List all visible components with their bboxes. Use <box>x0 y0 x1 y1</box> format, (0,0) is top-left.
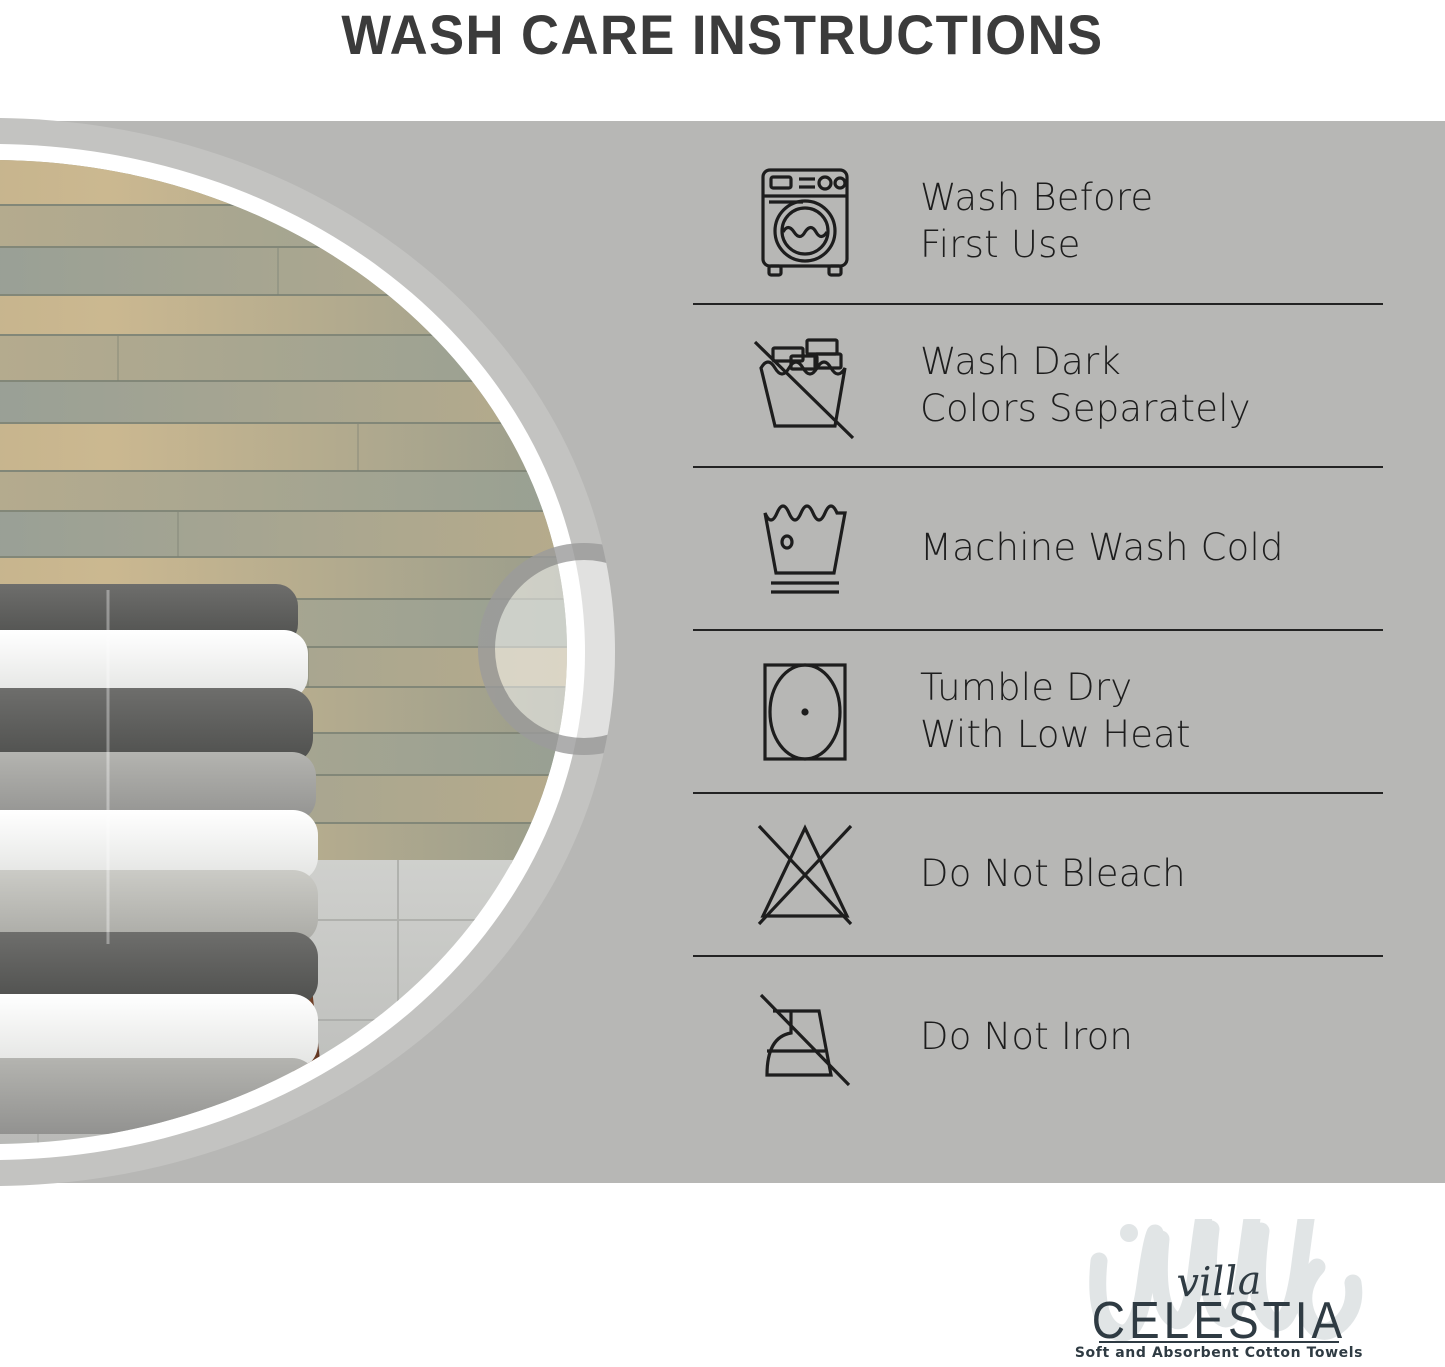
care-row-do-not-iron: Do Not Iron <box>693 955 1383 1118</box>
care-label-line: Do Not Iron <box>920 1014 1133 1061</box>
care-label-tumble-dry-low-heat: Tumble Dry With Low Heat <box>920 665 1191 758</box>
care-row-tumble-dry-low-heat: Tumble Dry With Low Heat <box>693 629 1383 792</box>
care-label-line: Wash Before <box>920 175 1153 222</box>
care-label-wash-before-first-use: Wash Before First Use <box>920 175 1153 268</box>
machine-wash-cold-basin-icon <box>745 489 865 609</box>
brand-logo: villa CELESTIA Soft and Absorbent Cotton… <box>1069 1223 1369 1361</box>
care-row-wash-dark-colors-separately: Wash Dark Colors Separately <box>693 303 1383 466</box>
care-label-line: With Low Heat <box>920 712 1191 759</box>
washing-machine-icon <box>745 162 865 282</box>
care-row-do-not-bleach: Do Not Bleach <box>693 792 1383 955</box>
care-label-line: Colors Separately <box>920 386 1251 433</box>
care-label-line: First Use <box>920 222 1153 269</box>
care-label-do-not-bleach: Do Not Bleach <box>920 851 1186 898</box>
brand-divider <box>1099 1341 1339 1343</box>
no-mixed-colors-basin-icon <box>745 326 865 446</box>
care-label-line: Wash Dark <box>920 339 1251 386</box>
care-label-machine-wash-cold: Machine Wash Cold <box>920 525 1284 572</box>
photo-medallion <box>0 118 615 1186</box>
wash-care-infographic: WASH CARE INSTRUCTIONS <box>0 0 1445 1367</box>
do-not-bleach-triangle-icon <box>745 815 865 935</box>
care-label-line: Do Not Bleach <box>920 851 1186 898</box>
care-label-line: Tumble Dry <box>920 665 1191 712</box>
care-label-do-not-iron: Do Not Iron <box>920 1014 1133 1061</box>
care-label-line: Machine Wash Cold <box>920 525 1284 572</box>
do-not-iron-icon <box>745 978 865 1098</box>
care-label-wash-dark-colors-separately: Wash Dark Colors Separately <box>920 339 1251 432</box>
tumble-dry-low-heat-icon <box>745 652 865 772</box>
page-title: WASH CARE INSTRUCTIONS <box>43 2 1401 67</box>
care-row-machine-wash-cold: Machine Wash Cold <box>693 466 1383 629</box>
brand-tagline: Soft and Absorbent Cotton Towels <box>1069 1345 1369 1361</box>
care-row-wash-before-first-use: Wash Before First Use <box>693 140 1383 303</box>
care-instruction-list: Wash Before First Use Wash Dark Colors S… <box>693 140 1383 1118</box>
